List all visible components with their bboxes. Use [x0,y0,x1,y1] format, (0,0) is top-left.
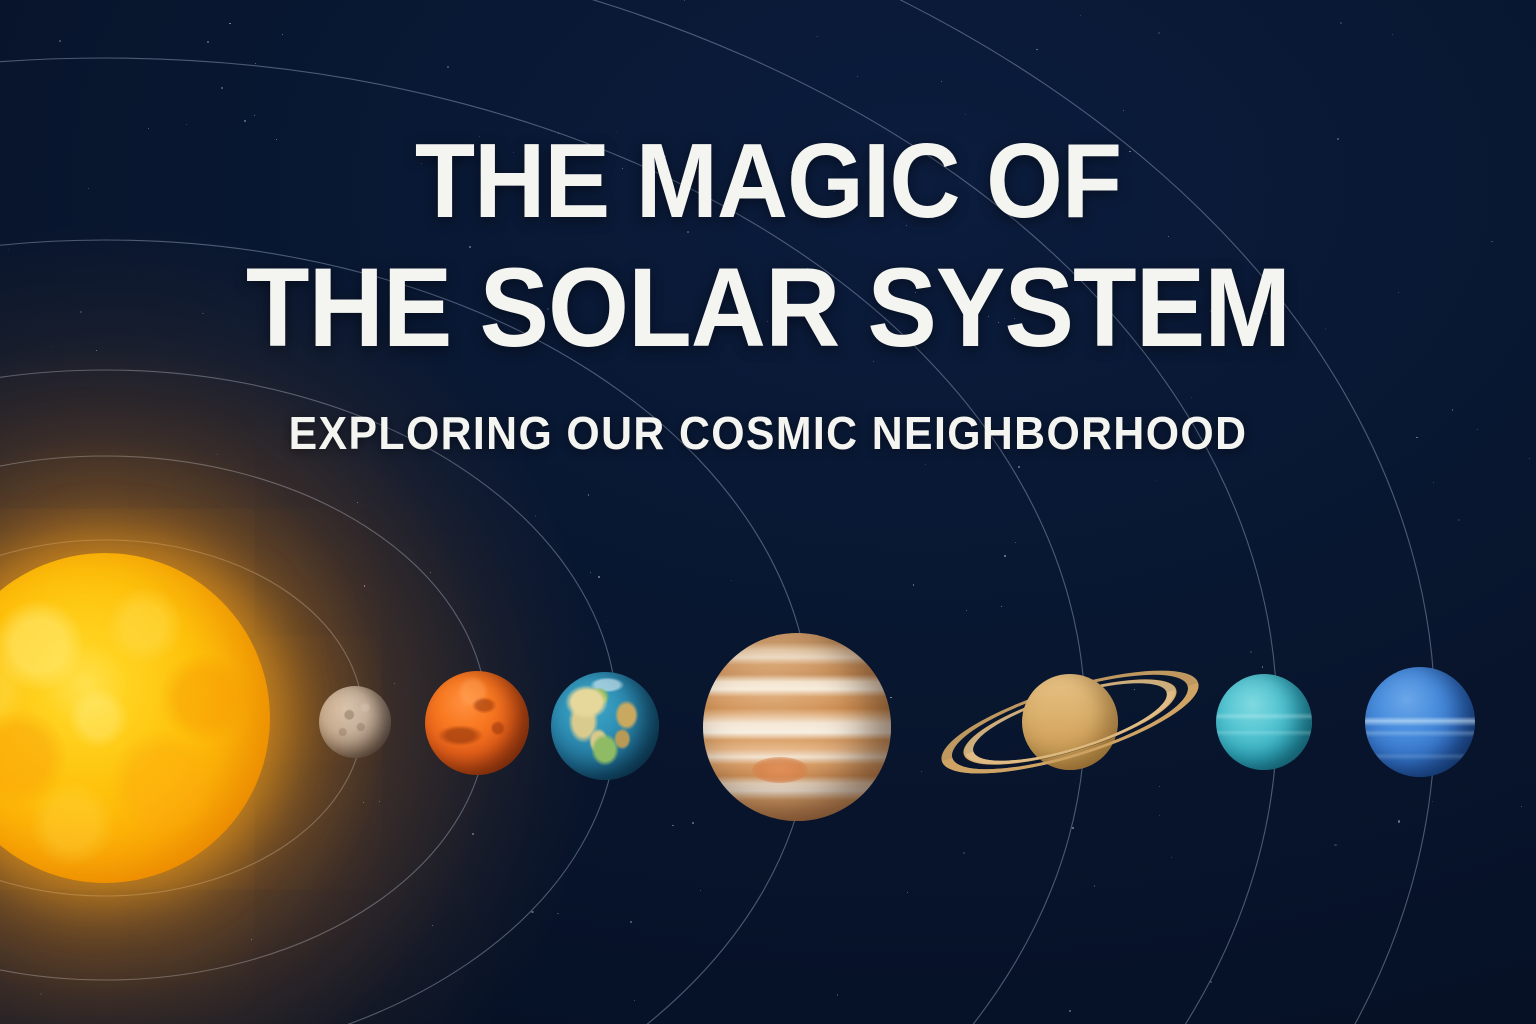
star [1250,651,1252,653]
star [379,801,380,802]
star [606,621,607,622]
star [857,76,858,77]
planet-jupiter [703,633,891,821]
poster-subtitle: EXPLORING OUR COSMIC NEIGHBORHOOD [54,406,1482,460]
solar-system-poster: THE MAGIC OF THE SOLAR SYSTEM EXPLORING … [0,0,1536,1024]
planet-earth [551,672,659,780]
star [692,822,694,824]
star [700,890,701,891]
star [531,911,533,913]
star [1069,1010,1071,1012]
star [447,66,449,68]
star [1001,606,1002,607]
star [1072,827,1074,829]
planet-mercury [319,686,391,758]
star [684,0,685,1]
title-line-2: THE SOLAR SYSTEM [54,252,1482,364]
star [1018,466,1020,468]
star [229,23,230,24]
sun-surface-texture [0,553,270,883]
star [1458,519,1460,521]
star [432,925,433,926]
star [630,921,632,923]
star [364,585,365,586]
star [255,63,256,64]
star [1210,981,1212,983]
planet-mars [425,671,529,775]
star [1433,482,1434,483]
star [965,114,966,115]
star [1334,844,1336,846]
star [588,494,589,495]
mercury-craters [319,686,391,758]
star [634,1000,635,1001]
star [557,913,558,914]
star [921,771,922,772]
star [913,584,914,585]
earth-continents [551,672,659,780]
planet-sun [0,553,270,883]
star [472,833,474,835]
star [1158,32,1160,34]
star [1015,542,1016,543]
star [207,41,209,43]
star [966,610,967,611]
star [430,572,431,573]
star [890,697,891,698]
planet-neptune [1365,667,1475,777]
star [941,81,942,82]
star [1171,857,1172,858]
star [907,892,908,893]
star [357,502,358,503]
star [963,852,965,854]
star [1432,801,1433,802]
star [1123,110,1124,111]
star [1398,820,1400,822]
star [816,36,817,37]
star [254,115,255,116]
star [221,87,223,89]
star [837,994,838,995]
star [590,572,591,573]
star [251,939,252,940]
planet-saturn [940,627,1200,817]
star [1094,885,1095,886]
star [1004,555,1006,557]
uranus-bands [1216,674,1312,770]
star [1521,806,1522,807]
star [1262,666,1263,667]
star [1340,22,1342,24]
jupiter-highlight [703,633,891,821]
star [40,993,42,995]
star [1156,480,1157,481]
planet-uranus [1216,674,1312,770]
star [282,34,283,35]
headline-block: THE MAGIC OF THE SOLAR SYSTEM EXPLORING … [0,128,1536,460]
mars-surface-markings [425,671,529,775]
star [1080,15,1081,16]
star [731,580,732,581]
star [1392,34,1393,35]
star [186,124,187,125]
star [244,120,246,122]
star [598,576,600,578]
star [535,515,536,516]
star [925,464,926,465]
star [59,40,61,42]
star [672,825,673,826]
star [363,802,364,803]
neptune-bands [1365,667,1475,777]
star [394,683,395,684]
title-line-1: THE MAGIC OF [54,128,1482,234]
star [1036,49,1037,50]
